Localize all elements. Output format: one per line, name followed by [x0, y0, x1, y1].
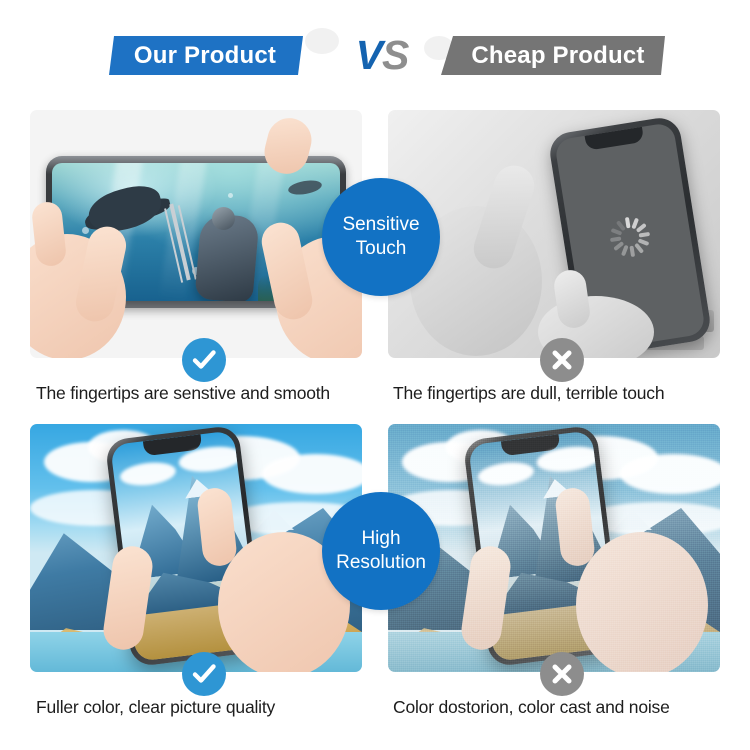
loading-spinner-icon — [607, 214, 653, 260]
caption-our-sensitive-touch: The fingertips are senstive and smooth — [36, 383, 330, 404]
panel-our-sensitive-touch — [30, 110, 362, 358]
header-banner-row: Our Product VS Cheap Product — [0, 0, 750, 100]
caption-our-high-resolution: Fuller color, clear picture quality — [36, 697, 275, 718]
feature-badge-line1: Sensitive — [342, 213, 419, 237]
cross-icon — [540, 652, 584, 696]
caption-cheap-high-resolution: Color dostorion, color cast and noise — [393, 697, 670, 718]
phone-notch — [585, 127, 645, 151]
check-icon — [182, 652, 226, 696]
feature-badge-line2: Touch — [356, 237, 407, 261]
vs-letter-v: V — [356, 32, 382, 79]
our-product-banner: Our Product — [109, 36, 303, 75]
panel-our-high-resolution — [30, 424, 362, 672]
caption-cheap-sensitive-touch: The fingertips are dull, terrible touch — [393, 383, 664, 404]
feature-badge-sensitive-touch: Sensitive Touch — [322, 178, 440, 296]
cross-icon — [540, 338, 584, 382]
feature-badge-high-resolution: High Resolution — [322, 492, 440, 610]
decorative-bubble-left — [305, 28, 339, 54]
vs-letter-s: S — [382, 32, 408, 79]
feature-badge-line1: High — [361, 527, 400, 551]
check-icon — [182, 338, 226, 382]
scene-mountain-vivid — [30, 424, 362, 672]
diver-distant — [287, 178, 323, 197]
comparison-infographic: Our Product VS Cheap Product — [0, 0, 750, 750]
diver-main-helmet — [212, 207, 235, 230]
cheap-product-banner: Cheap Product — [441, 36, 665, 75]
holding-hand — [576, 532, 708, 672]
feature-badge-line2: Resolution — [336, 551, 426, 575]
scene-gaming-phone-landscape — [30, 110, 362, 358]
vs-separator: VS — [339, 29, 425, 81]
